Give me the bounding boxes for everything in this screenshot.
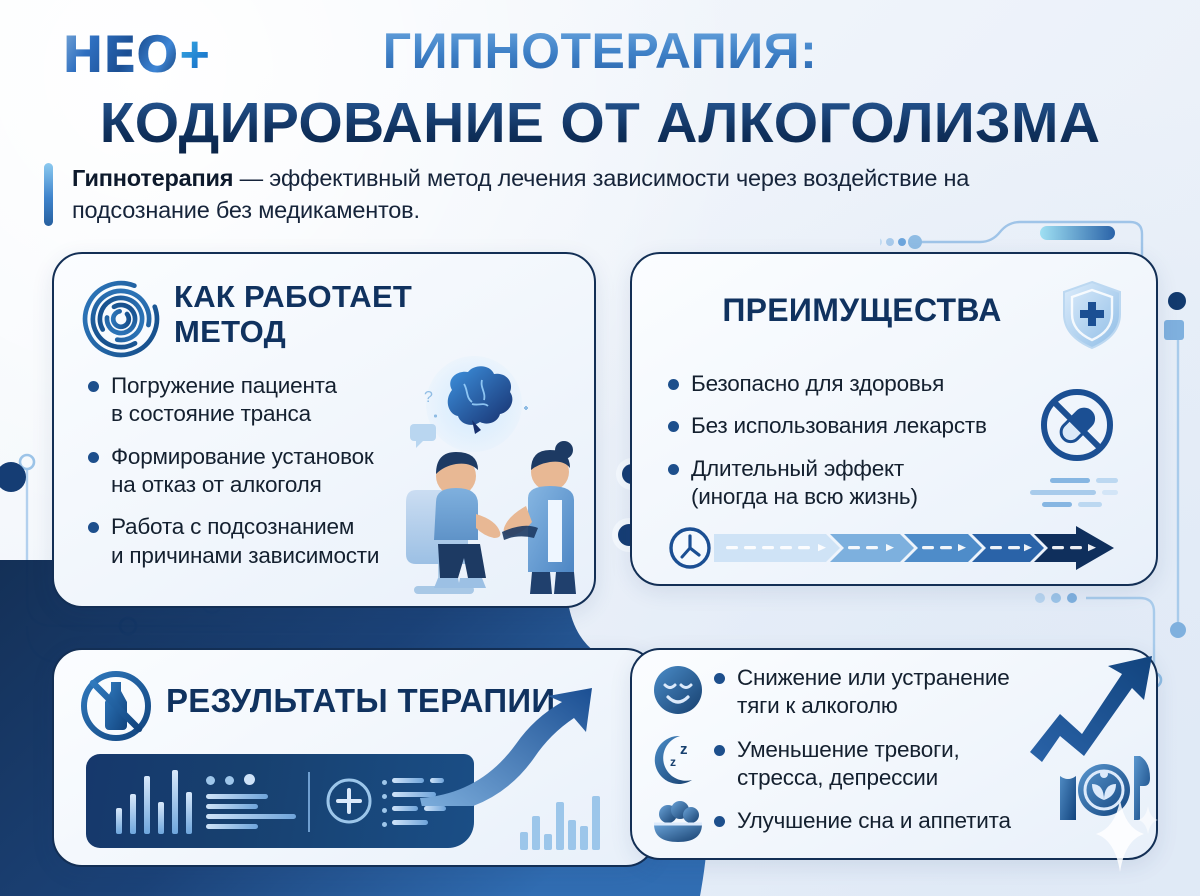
- bullet-dot-icon: [714, 745, 725, 756]
- bar-chart-bar: [144, 776, 150, 834]
- list-item: Уменьшение тревоги, стресса, депрессии: [714, 736, 1124, 793]
- bullet-dot-icon: [88, 522, 99, 533]
- card-title-advantages: ПРЕИМУЩЕСТВА: [632, 292, 1092, 329]
- list-item-label: Безопасно для здоровья: [691, 370, 944, 398]
- strip-divider: [308, 772, 310, 832]
- bullet-dot-icon: [88, 381, 99, 392]
- data-line: [392, 806, 418, 811]
- node-square-right-rail: [1164, 320, 1184, 340]
- list-item: Снижение или устранение тяги к алкоголю: [714, 664, 1124, 721]
- list-item-label: Работа с подсознанием и причинами зависи…: [111, 513, 379, 570]
- svg-text:z: z: [670, 755, 676, 769]
- bullet-list-advantages: Безопасно для здоровья Без использования…: [668, 370, 1028, 525]
- dot-indicator: [244, 774, 255, 785]
- dot-indicator: [206, 776, 215, 785]
- page-title-line1: ГИПНОТЕРАПИЯ:: [0, 22, 1200, 80]
- no-alcohol-icon: [78, 668, 154, 744]
- spiral-icon: [82, 280, 160, 358]
- calm-face-icon: [652, 664, 704, 716]
- node-dot-right-rail: [1168, 292, 1186, 310]
- dot-indicator: [382, 808, 387, 813]
- list-item: Погружение пациента в состояние транса: [88, 372, 448, 429]
- data-line: [392, 792, 436, 797]
- list-item: Длительный эффект (иногда на всю жизнь): [668, 455, 1028, 512]
- data-line: [424, 806, 446, 811]
- data-line: [206, 804, 258, 809]
- bar-chart-bar: [116, 808, 122, 834]
- bullet-dot-icon: [88, 452, 99, 463]
- data-line: [206, 824, 258, 829]
- data-line: [430, 778, 444, 783]
- card-title-method: КАК РАБОТАЕТ МЕТОД: [174, 280, 504, 349]
- list-item-label: Уменьшение тревоги, стресса, депрессии: [737, 736, 960, 793]
- dot-indicator: [382, 794, 387, 799]
- bullet-dot-icon: [668, 464, 679, 475]
- bar-chart-bar: [172, 770, 178, 834]
- plus-circle-icon: [324, 776, 374, 826]
- bullet-dot-icon: [668, 421, 679, 432]
- bullet-list-outcomes: Снижение или устранение тяги к алкоголю …: [714, 664, 1124, 850]
- lead-accent-bar: [44, 163, 53, 226]
- results-data-strip: [86, 754, 474, 848]
- shield-plus-icon: [1060, 280, 1124, 350]
- no-pills-icon: [1038, 386, 1116, 464]
- clock-icon: [671, 529, 709, 567]
- card-outcomes: z z Снижение или устранение тяги к алког…: [630, 648, 1158, 860]
- list-item: Работа с подсознанием и причинами зависи…: [88, 513, 448, 570]
- timeline-progress-arrow: [668, 524, 1118, 572]
- bullet-dot-icon: [668, 379, 679, 390]
- data-line: [206, 794, 268, 799]
- dot-indicator: [382, 822, 387, 827]
- list-item: Без использования лекарств: [668, 412, 1028, 440]
- header: HEO + ГИПНОТЕРАПИЯ: КОДИРОВАНИЕ ОТ АЛКОГ…: [0, 0, 1200, 250]
- text-lines-decoration: [1024, 476, 1120, 512]
- salad-bowl-icon: [650, 800, 706, 846]
- sleep-moon-icon: z z: [650, 732, 706, 784]
- lead-bold: Гипнотерапия: [72, 165, 233, 191]
- list-item-label: Длительный эффект (иногда на всю жизнь): [691, 455, 918, 512]
- data-line: [392, 820, 428, 825]
- page-title-line2: КОДИРОВАНИЕ ОТ АЛКОГОЛИЗМА: [0, 90, 1200, 156]
- list-item: Формирование установок на отказ от алког…: [88, 443, 448, 500]
- bullet-dot-icon: [714, 816, 725, 827]
- list-item-label: Без использования лекарств: [691, 412, 987, 440]
- list-item-label: Погружение пациента в состояние транса: [111, 372, 337, 429]
- lead-paragraph: Гипнотерапия — эффективный метод лечения…: [72, 162, 1082, 227]
- card-how-method-works: КАК РАБОТАЕТ МЕТОД: [52, 252, 596, 608]
- bar-chart-bar: [130, 794, 136, 834]
- list-item-label: Формирование установок на отказ от алког…: [111, 443, 374, 500]
- dot-indicator: [382, 780, 387, 785]
- card-title-results: РЕЗУЛЬТАТЫ ТЕРАПИИ: [166, 682, 636, 720]
- list-item-label: Улучшение сна и аппетита: [737, 807, 1011, 835]
- bar-chart-bar: [158, 802, 164, 834]
- list-item: Безопасно для здоровья: [668, 370, 1028, 398]
- list-item-label: Снижение или устранение тяги к алкоголю: [737, 664, 1010, 721]
- data-line: [392, 778, 424, 783]
- bullet-list-method: Погружение пациента в состояние транса Ф…: [88, 372, 448, 584]
- infographic-root: HEO + ГИПНОТЕРАПИЯ: КОДИРОВАНИЕ ОТ АЛКОГ…: [0, 0, 1200, 896]
- bullet-dot-icon: [714, 673, 725, 684]
- data-line: [206, 814, 296, 819]
- svg-text:z: z: [680, 741, 688, 758]
- list-item: Улучшение сна и аппетита: [714, 807, 1124, 835]
- bar-chart-bar: [186, 792, 192, 834]
- node-dot-far-left: [0, 462, 26, 492]
- dot-indicator: [225, 776, 234, 785]
